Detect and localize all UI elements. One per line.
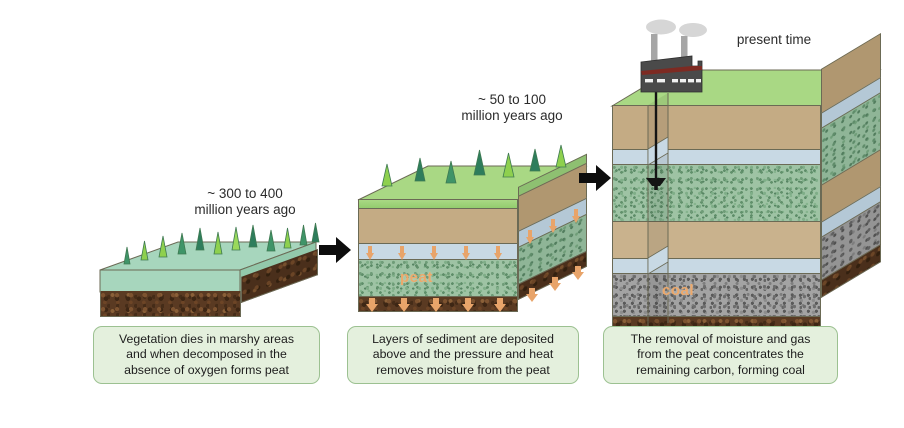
stage-1-caption: Vegetation dies in marshy areas and when… (93, 326, 320, 384)
diagram-canvas: ~ 300 to 400 million years ago (0, 0, 904, 428)
stage-2-time-label: ~ 50 to 100 million years ago (437, 92, 587, 124)
pressure-arrow-icon (526, 209, 580, 244)
arrow-right-icon (319, 237, 351, 263)
stage-3-coal-label: coal (662, 282, 694, 299)
stage-2-peat-label: peat (400, 269, 433, 286)
stage-3-block: coal (610, 60, 882, 310)
pressure-arrow-icon (526, 266, 584, 302)
stage-3-caption: The removal of moisture and gas from the… (603, 326, 838, 384)
stage-1-time-label: ~ 300 to 400 million years ago (170, 186, 320, 218)
stage-arrow-1 (318, 235, 352, 265)
stage-1-front-soil-face (100, 291, 241, 317)
tree (124, 223, 319, 264)
stage-2-front-sediment-layer (358, 208, 518, 244)
tree (382, 145, 566, 186)
stage-arrow-2 (578, 163, 612, 193)
stage-1-front-mint-face (100, 270, 240, 292)
stage-2-front-peat-layer (358, 259, 518, 297)
stage-2-caption: Layers of sediment are deposited above a… (347, 326, 579, 384)
coal-plant (630, 14, 760, 94)
stage-1-tree-group (100, 218, 320, 270)
pressure-arrow-icon (366, 246, 502, 260)
drill-bit-stem (654, 184, 658, 190)
stage-2-tree-group (368, 142, 568, 188)
smoke-puff-icon (679, 23, 707, 37)
arrow-right-icon (579, 165, 611, 191)
smoke-puff-icon (646, 20, 676, 35)
pressure-arrow-icon (366, 298, 506, 312)
